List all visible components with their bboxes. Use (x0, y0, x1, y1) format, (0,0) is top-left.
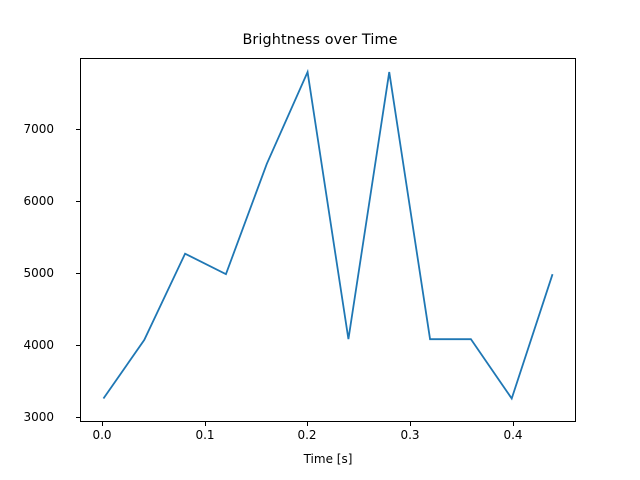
plot-area (80, 58, 576, 422)
y-tick-label-7000: 7000 (0, 122, 54, 136)
y-tick-label-3000: 3000 (0, 410, 54, 424)
y-tick-label-5000: 5000 (0, 266, 54, 280)
y-tick-label-4000: 4000 (0, 338, 54, 352)
x-axis-label: Time [s] (80, 452, 576, 466)
x-tick-label-3: 0.3 (380, 428, 440, 442)
x-tick-label-2: 0.2 (277, 428, 337, 442)
plot-canvas (81, 59, 575, 421)
x-tick-mark-1 (205, 422, 206, 426)
matplotlib-figure: Brightness over Time Brightness Time [s]… (0, 0, 640, 480)
chart-title: Brightness over Time (0, 32, 640, 48)
y-tick-label-6000: 6000 (0, 194, 54, 208)
x-tick-mark-2 (307, 422, 308, 426)
brightness-line-series (103, 72, 552, 398)
x-tick-mark-3 (410, 422, 411, 426)
x-tick-label-1: 0.1 (175, 428, 235, 442)
x-tick-label-0: 0.0 (72, 428, 132, 442)
x-tick-mark-4 (513, 422, 514, 426)
x-tick-label-4: 0.4 (483, 428, 543, 442)
x-tick-mark-0 (102, 422, 103, 426)
